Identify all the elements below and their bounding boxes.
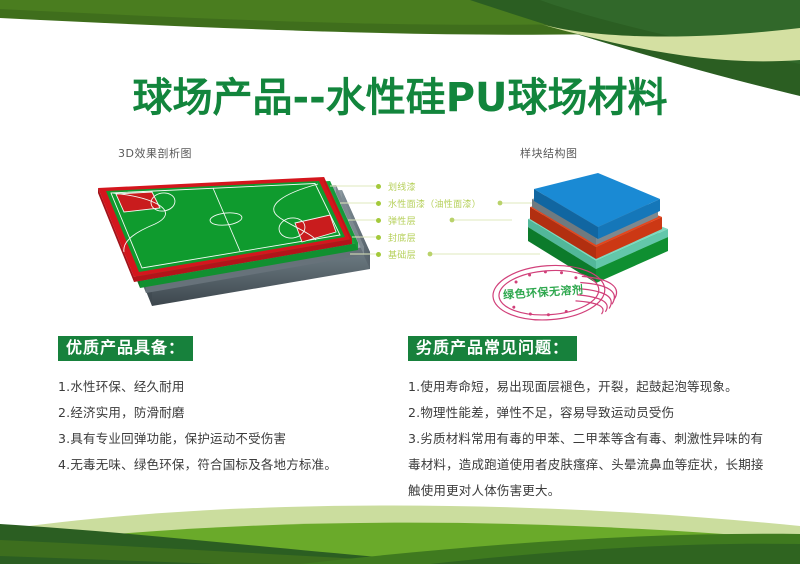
list-item: 4.无毒无味、绿色环保，符合国标及各地方标准。	[58, 452, 388, 478]
quality-products-list: 1.水性环保、经久耐用 2.经济实用，防滑耐磨 3.具有专业回弹功能，保护运动不…	[58, 374, 388, 478]
layer-callout-list: 划线漆 水性面漆（油性面漆） 弹性层 封底层 基础层	[376, 180, 526, 270]
inferior-products-heading: 劣质产品常见问题：	[408, 336, 577, 361]
bullet-dot-icon	[376, 252, 381, 257]
callout-item: 划线漆	[376, 180, 416, 193]
bullet-dot-icon	[376, 218, 381, 223]
quality-products-column: 优质产品具备： 1.水性环保、经久耐用 2.经济实用，防滑耐磨 3.具有专业回弹…	[58, 336, 388, 478]
callout-item: 基础层	[376, 248, 416, 261]
list-item: 1.使用寿命短，易出现面层褪色，开裂，起鼓起泡等现象。	[408, 374, 773, 400]
poster-canvas: 球场产品--水性硅PU球场材料 3D效果剖析图 样块结构图	[0, 0, 800, 564]
list-item: 2.物理性能差，弹性不足，容易导致运动员受伤	[408, 400, 773, 426]
callout-label: 划线漆	[388, 180, 416, 193]
callout-label: 封底层	[388, 231, 416, 244]
callout-label: 基础层	[388, 248, 416, 261]
eco-stamp: 绿色环保无溶剂	[487, 258, 632, 330]
bullet-dot-icon	[376, 184, 381, 189]
list-item: 1.水性环保、经久耐用	[58, 374, 388, 400]
list-item: 3.劣质材料常用有毒的甲苯、二甲苯等含有毒、刺激性异味的有毒材料，造成跑道使用者…	[408, 426, 773, 504]
inferior-products-list: 1.使用寿命短，易出现面层褪色，开裂，起鼓起泡等现象。 2.物理性能差，弹性不足…	[408, 374, 773, 504]
callout-item: 弹性层	[376, 214, 416, 227]
inferior-products-column: 劣质产品常见问题： 1.使用寿命短，易出现面层褪色，开裂，起鼓起泡等现象。 2.…	[408, 336, 773, 504]
callout-item: 水性面漆（油性面漆）	[376, 197, 481, 210]
callout-label: 弹性层	[388, 214, 416, 227]
callout-label: 水性面漆（油性面漆）	[388, 197, 481, 210]
list-item: 2.经济实用，防滑耐磨	[58, 400, 388, 426]
quality-products-heading: 优质产品具备：	[58, 336, 193, 361]
bullet-dot-icon	[376, 235, 381, 240]
callout-item: 封底层	[376, 231, 416, 244]
list-item: 3.具有专业回弹功能，保护运动不受伤害	[58, 426, 388, 452]
bullet-dot-icon	[376, 201, 381, 206]
